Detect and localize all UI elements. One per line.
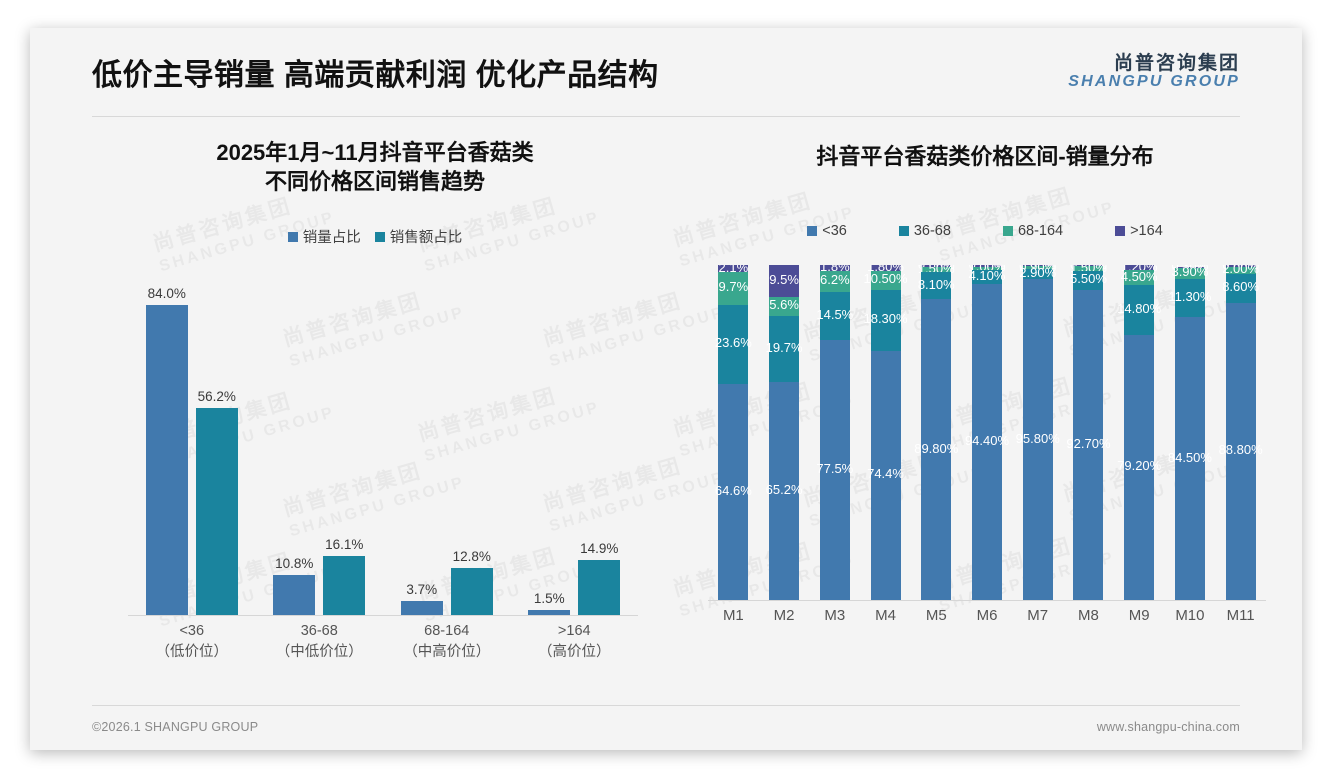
stacked-bar-segment[interactable]: 5.50% <box>1073 271 1103 289</box>
x-tick-label: 68-164（中高价位） <box>383 621 511 663</box>
segment-value-label: 8.60% <box>1222 279 1259 294</box>
x-tick-range: <36 <box>128 621 256 642</box>
stacked-bar-column[interactable]: 0.40%1.50%5.50%92.70% <box>1073 265 1103 600</box>
stacked-bar-segment[interactable]: 65.2% <box>769 382 799 600</box>
legend-label: 68-164 <box>1018 223 1063 239</box>
stacked-bar-segment[interactable]: 89.80% <box>921 299 951 600</box>
x-tick-sublabel: （中高价位） <box>383 642 511 663</box>
segment-value-label: 64.6% <box>715 483 752 498</box>
legend-swatch-icon <box>375 232 385 242</box>
stacked-bar-clip: 2.1%9.7%23.6%64.6%9.5%5.6%19.7%65.2%1.8%… <box>708 265 1266 600</box>
stacked-bar-segment[interactable]: 64.6% <box>718 384 748 600</box>
slide-canvas: 低价主导销量 高端贡献利润 优化产品结构 尚普咨询集团 SHANGPU GROU… <box>30 28 1302 750</box>
bar-value-label: 12.8% <box>453 549 491 564</box>
legend-label: 销量占比 <box>303 226 361 247</box>
bar-value-label: 56.2% <box>198 389 236 404</box>
x-tick-label: M2 <box>759 607 809 624</box>
x-tick-label: M11 <box>1216 607 1266 624</box>
stacked-bar-segment[interactable]: 92.70% <box>1073 290 1103 601</box>
stacked-bar-segment[interactable]: 9.5% <box>769 265 799 297</box>
stacked-bar-segment[interactable]: 8.10% <box>921 272 951 299</box>
x-tick-range: >164 <box>511 621 639 642</box>
stacked-bar-segment[interactable]: 8.60% <box>1226 274 1256 303</box>
stacked-bar-column[interactable]: 0.40%0.90%2.90%95.80% <box>1023 265 1053 600</box>
left-chart-panel: 2025年1月~11月抖音平台香菇类 不同价格区间销售趋势 销量占比销售额占比 … <box>70 124 680 694</box>
segment-value-label: 89.80% <box>914 441 958 456</box>
stacked-bar-segment[interactable]: 9.7% <box>718 272 748 304</box>
stacked-bar-column[interactable]: 1.80%10.50%18.30%74.4% <box>871 265 901 600</box>
segment-value-label: 65.2% <box>766 482 803 497</box>
stacked-bar-column[interactable]: 1.20%4.50%14.80%79.20% <box>1124 265 1154 600</box>
segment-value-label: 10.50% <box>863 271 907 286</box>
header-divider <box>92 116 1240 117</box>
segment-value-label: 2.90% <box>1019 265 1056 280</box>
segment-value-label: 18.30% <box>863 311 907 326</box>
x-tick-sublabel: （中低价位） <box>256 642 384 663</box>
segment-value-label: 9.5% <box>769 272 799 287</box>
segment-value-label: 94.40% <box>965 433 1009 448</box>
stacked-bar-column[interactable]: 0.50%1.00%4.10%94.40% <box>972 265 1002 600</box>
bar-group: 1.5%14.9% <box>511 283 639 615</box>
stacked-bar-plot-area: 2.1%9.7%23.6%64.6%9.5%5.6%19.7%65.2%1.8%… <box>708 265 1266 600</box>
segment-value-label: 5.50% <box>1070 271 1107 286</box>
stacked-bar-column[interactable]: 2.1%9.7%23.6%64.6% <box>718 265 748 600</box>
stacked-bar-segment[interactable]: 74.4% <box>871 351 901 600</box>
legend-label: <36 <box>822 223 847 239</box>
bar-value-label: 14.9% <box>580 541 618 556</box>
legend-swatch-icon <box>288 232 298 242</box>
stacked-bar-column[interactable]: 9.5%5.6%19.7%65.2% <box>769 265 799 600</box>
segment-value-label: 5.6% <box>769 297 799 312</box>
legend-swatch-icon <box>899 226 909 236</box>
segment-value-label: 79.20% <box>1117 458 1161 473</box>
stacked-bar-segment[interactable]: 95.80% <box>1023 279 1053 600</box>
footer-divider <box>92 705 1240 706</box>
right-chart-panel: 抖音平台香菇类价格区间-销量分布 <3636-6868-164>164 2.1%… <box>690 124 1280 694</box>
segment-value-label: 88.80% <box>1219 442 1263 457</box>
stacked-bar-segment[interactable]: 3.90% <box>1175 268 1205 279</box>
legend-label: >164 <box>1130 223 1163 239</box>
legend-label: 销售额占比 <box>390 226 463 247</box>
stacked-bar-segment[interactable]: 19.7% <box>769 316 799 382</box>
bar-value-label: 10.8% <box>275 556 313 571</box>
grouped-bar-chart: 84.0%56.2%10.8%16.1%3.7%12.8%1.5%14.9% <… <box>70 261 680 651</box>
x-tick-label: M7 <box>1013 607 1063 624</box>
x-tick-sublabel: （高价位） <box>511 642 639 663</box>
stacked-bar-segment[interactable]: 77.5% <box>820 340 850 600</box>
logo-chinese-text: 尚普咨询集团 <box>1068 54 1240 74</box>
stacked-bar-segment[interactable]: 2.00% <box>1226 267 1256 274</box>
grouped-bar-plot-area: 84.0%56.2%10.8%16.1%3.7%12.8%1.5%14.9% <box>128 283 638 615</box>
segment-value-label: 95.80% <box>1016 431 1060 446</box>
x-tick-label: M6 <box>962 607 1012 624</box>
x-tick-label: M3 <box>810 607 860 624</box>
segment-value-label: 6.2% <box>820 272 850 287</box>
right-chart-title: 抖音平台香菇类价格区间-销量分布 <box>690 142 1280 171</box>
left-chart-x-axis-line <box>128 615 638 616</box>
left-chart-x-tick-labels: <36（低价位）36-68（中低价位）68-164（中高价位）>164（高价位） <box>128 621 638 685</box>
stacked-bar-column[interactable]: 0.60%1.50%8.10%89.80% <box>921 265 951 600</box>
segment-value-label: 92.70% <box>1066 436 1110 451</box>
stacked-bar-segment[interactable]: 11.30% <box>1175 279 1205 317</box>
legend-swatch-icon <box>1115 226 1125 236</box>
stacked-bar-segment[interactable]: 88.80% <box>1226 303 1256 600</box>
page-title: 低价主导销量 高端贡献利润 优化产品结构 <box>92 50 659 94</box>
stacked-bar-segment[interactable]: 23.6% <box>718 305 748 384</box>
stacked-bar-segment[interactable]: 5.6% <box>769 297 799 316</box>
segment-value-label: 11.30% <box>1168 289 1211 304</box>
right-chart-x-axis-line <box>708 600 1266 601</box>
x-tick-label: M9 <box>1114 607 1164 624</box>
stacked-bar-segment[interactable]: 10.50% <box>871 271 901 289</box>
x-tick-label: M4 <box>861 607 911 624</box>
stacked-bar-segment[interactable]: 4.10% <box>972 270 1002 284</box>
stacked-bar-column[interactable]: 0.30%3.90%11.30%84.50% <box>1175 265 1205 600</box>
bar-value-label: 84.0% <box>148 286 186 301</box>
x-tick-label: >164（高价位） <box>511 621 639 663</box>
bar-group: 10.8%16.1% <box>256 283 384 615</box>
left-chart-title: 2025年1月~11月抖音平台香菇类 不同价格区间销售趋势 <box>70 138 680 196</box>
bar[interactable]: 3.7% <box>401 601 443 615</box>
left-chart-title-line2: 不同价格区间销售趋势 <box>70 167 680 196</box>
bar[interactable]: 12.8% <box>451 568 493 615</box>
x-tick-range: 36-68 <box>256 621 384 642</box>
slide-header: 低价主导销量 高端贡献利润 优化产品结构 尚普咨询集团 SHANGPU GROU… <box>30 28 1302 116</box>
segment-value-label: 74.4% <box>867 466 904 481</box>
stacked-bar-segment[interactable]: 4.50% <box>1124 270 1154 285</box>
stacked-bar-segment[interactable]: 79.20% <box>1124 335 1154 600</box>
segment-value-label: 4.10% <box>969 268 1006 283</box>
footer-copyright: ©2026.1 SHANGPU GROUP <box>92 720 258 734</box>
bar-value-label: 1.5% <box>534 591 565 606</box>
logo-english-text: SHANGPU GROUP <box>1068 74 1240 91</box>
stacked-bar-segment[interactable]: 18.30% <box>871 290 901 351</box>
x-tick-label: M8 <box>1063 607 1113 624</box>
bar[interactable]: 14.9% <box>578 560 620 615</box>
stacked-bar-column[interactable]: 1.8%6.2%14.5%77.5% <box>820 265 850 600</box>
segment-value-label: 19.7% <box>766 340 803 355</box>
x-tick-label: 36-68（中低价位） <box>256 621 384 663</box>
segment-value-label: 3.90% <box>1171 265 1208 279</box>
legend-swatch-icon <box>807 226 817 236</box>
legend-swatch-icon <box>1003 226 1013 236</box>
left-chart-title-line1: 2025年1月~11月抖音平台香菇类 <box>70 138 680 167</box>
x-tick-sublabel: （低价位） <box>128 642 256 663</box>
bar-group: 3.7%12.8% <box>383 283 511 615</box>
segment-value-label: 14.80% <box>1117 301 1161 316</box>
x-tick-label: M10 <box>1165 607 1215 624</box>
stacked-bar-column[interactable]: 0.60%2.00%8.60%88.80% <box>1226 265 1256 600</box>
x-tick-label: M1 <box>708 607 758 624</box>
stacked-bar-chart: 2.1%9.7%23.6%64.6%9.5%5.6%19.7%65.2%1.8%… <box>690 255 1280 655</box>
segment-value-label: 9.7% <box>719 279 749 294</box>
bar[interactable]: 84.0% <box>146 305 188 615</box>
stacked-bar-segment[interactable]: 6.2% <box>820 271 850 292</box>
right-chart-legend: <3636-6868-164>164 <box>690 223 1280 239</box>
segment-value-label: 4.50% <box>1121 269 1158 284</box>
legend-item[interactable]: 销量占比 <box>288 226 361 247</box>
x-tick-label: <36（低价位） <box>128 621 256 663</box>
stacked-bar-segment[interactable]: 2.1% <box>718 265 748 272</box>
brand-logo: 尚普咨询集团 SHANGPU GROUP <box>1068 54 1240 91</box>
legend-item[interactable]: 36-68 <box>899 223 951 239</box>
segment-value-label: 77.5% <box>816 461 853 476</box>
stacked-bar-segment[interactable]: 84.50% <box>1175 317 1205 600</box>
stacked-bar-segment[interactable]: 14.80% <box>1124 285 1154 335</box>
segment-value-label: 14.5% <box>816 307 853 322</box>
bar-value-label: 16.1% <box>325 537 363 552</box>
legend-item[interactable]: <36 <box>807 223 847 239</box>
bar[interactable]: 10.8% <box>273 575 315 615</box>
stacked-bar-segment[interactable]: 14.5% <box>820 292 850 341</box>
x-tick-label: M5 <box>911 607 961 624</box>
legend-item[interactable]: 68-164 <box>1003 223 1063 239</box>
right-chart-x-tick-labels: M1M2M3M4M5M6M7M8M9M10M11 <box>708 607 1266 633</box>
segment-value-label: 8.10% <box>918 277 955 292</box>
footer-website: www.shangpu-china.com <box>1097 720 1240 734</box>
legend-label: 36-68 <box>914 223 951 239</box>
left-chart-legend: 销量占比销售额占比 <box>70 226 680 247</box>
stacked-bar-segment[interactable]: 2.90% <box>1023 269 1053 279</box>
bar[interactable]: 56.2% <box>196 408 238 615</box>
segment-value-label: 23.6% <box>715 335 752 350</box>
legend-item[interactable]: 销售额占比 <box>375 226 463 247</box>
bar[interactable]: 16.1% <box>323 556 365 615</box>
stacked-bar-segment[interactable]: 94.40% <box>972 284 1002 600</box>
segment-value-label: 84.50% <box>1168 450 1212 465</box>
bar-value-label: 3.7% <box>406 582 437 597</box>
bar-group: 84.0%56.2% <box>128 283 256 615</box>
legend-item[interactable]: >164 <box>1115 223 1163 239</box>
x-tick-range: 68-164 <box>383 621 511 642</box>
